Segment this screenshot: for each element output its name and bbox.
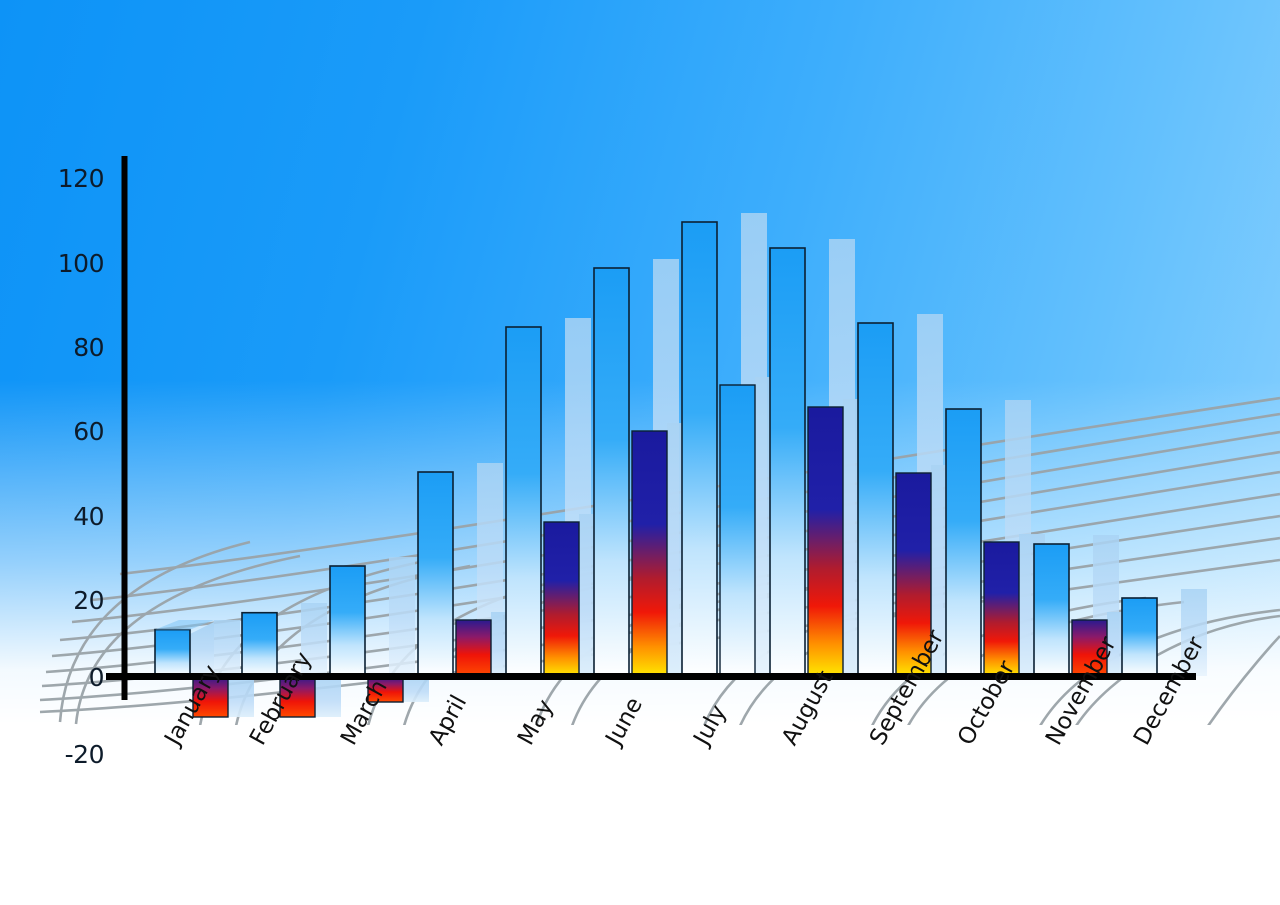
y-tick-0: 0 xyxy=(44,663,104,692)
y-tick-neg20: -20 xyxy=(36,740,104,769)
y-tick-80: 80 xyxy=(44,333,104,362)
bar-group-july xyxy=(682,213,781,676)
bar-group-november xyxy=(1034,535,1133,676)
bar-group-june xyxy=(594,259,693,676)
chart-canvas: 120 100 80 60 40 20 0 -20 January Februa… xyxy=(0,0,1280,905)
chart-plot-area xyxy=(0,0,1280,905)
y-tick-120: 120 xyxy=(44,164,104,193)
y-tick-100: 100 xyxy=(44,249,104,278)
bar-group-september xyxy=(858,314,957,676)
y-tick-20: 20 xyxy=(44,586,104,615)
y-tick-40: 40 xyxy=(44,502,104,531)
y-tick-60: 60 xyxy=(44,417,104,446)
bar-group-may xyxy=(506,318,605,676)
bar-group-august xyxy=(770,239,869,676)
bar-group-april xyxy=(418,463,517,676)
